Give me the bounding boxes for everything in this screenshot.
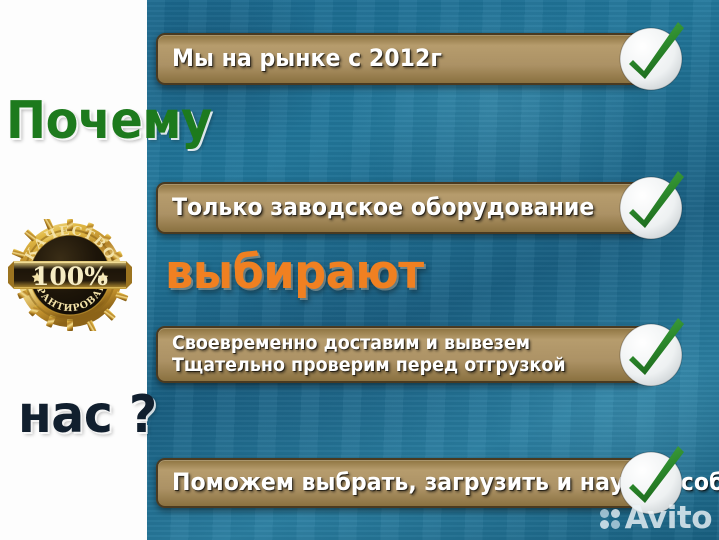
feature-text-line: Своевременно доставим и вывезем [172, 333, 558, 355]
feature-banner-factory-equipment: Только заводское оборудование [156, 182, 719, 234]
avito-brand-label: Avito [625, 503, 712, 534]
feature-plate: Мы на рынке с 2012г [156, 33, 654, 85]
feature-text-line: Тщательно проверим перед отгрузкой [172, 355, 558, 377]
feature-plate: Поможем выбрать, загрузить и научим соби… [156, 458, 654, 508]
badge-percent-label: 100% [32, 262, 108, 291]
feature-text-line: Только заводское оборудование [172, 195, 558, 220]
quality-guarantee-badge: КАЧЕСТВО ГАРАНТИРОВАНО 100% [8, 219, 132, 331]
headline-why: Почему [6, 95, 212, 147]
feature-plate: Своевременно доставим и вывеземТщательно… [156, 326, 654, 383]
feature-banner-since-2012: Мы на рынке с 2012г [156, 33, 719, 85]
check-mark-icon [618, 26, 684, 92]
feature-banner-delivery-and-inspection: Своевременно доставим и вывеземТщательно… [156, 326, 719, 383]
headline-choose: выбирают [165, 249, 424, 296]
headline-us: нас ? [18, 389, 157, 441]
check-mark-icon [618, 175, 684, 241]
feature-text-line: Поможем выбрать, загрузить и научим соби… [172, 470, 558, 495]
feature-text-line: Мы на рынке с 2012г [172, 46, 558, 71]
check-mark-icon [618, 322, 684, 388]
feature-plate: Только заводское оборудование [156, 182, 654, 234]
avito-watermark: Avito [600, 503, 712, 534]
avito-logo-icon [600, 509, 620, 529]
poster-root: Почему выбирают нас ? [0, 0, 719, 540]
